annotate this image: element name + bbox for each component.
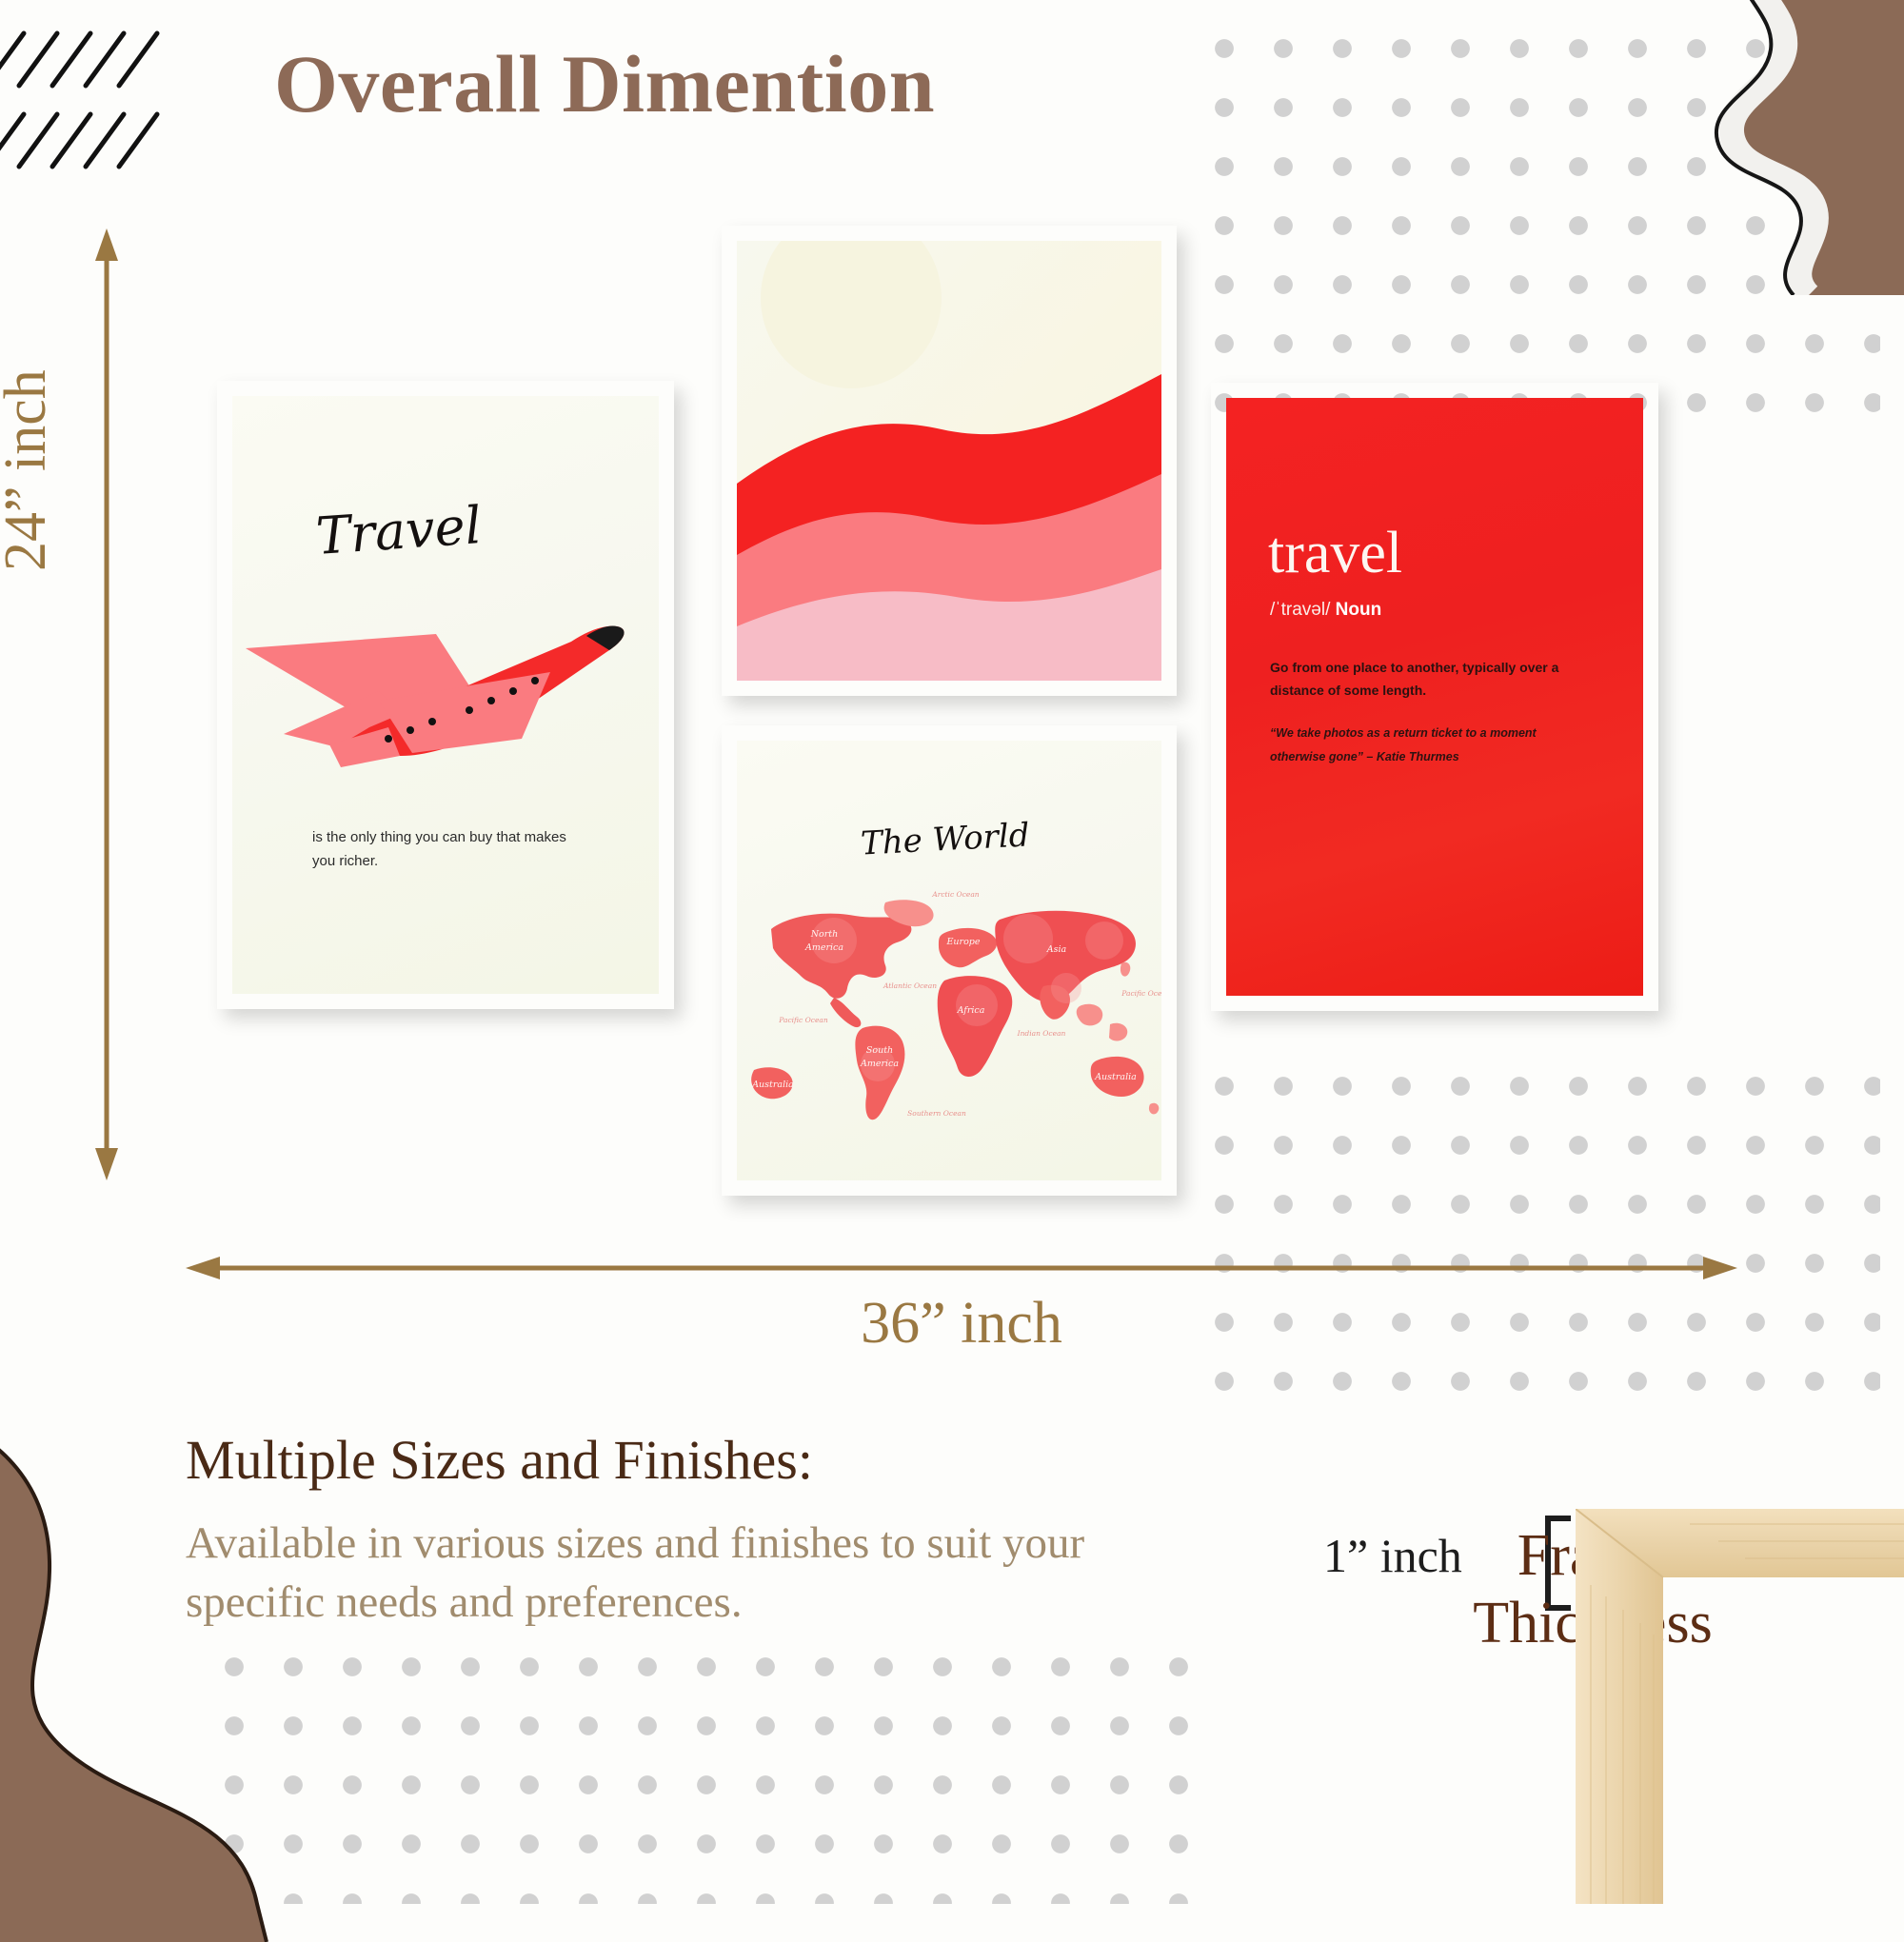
svg-text:Southern Ocean: Southern Ocean — [907, 1109, 966, 1118]
frame-corner-closeup — [1576, 1509, 1904, 1904]
poster-travel-definition: travel /ˈtravəl/ Noun Go from one place … — [1226, 398, 1643, 996]
frame-waves-poster[interactable] — [722, 226, 1177, 696]
frame-travel-mat: Travel — [232, 396, 659, 994]
svg-text:Pacific Ocean: Pacific Ocean — [1121, 989, 1161, 998]
dot-grid-bottom — [205, 1637, 1214, 1904]
svg-text:North: North — [810, 929, 839, 940]
width-dimension-label: 36” inch — [186, 1290, 1737, 1357]
definition-word: travel — [1268, 524, 1402, 583]
svg-text:South: South — [866, 1045, 893, 1056]
poster-travel: Travel — [232, 396, 659, 994]
frame-travel-poster[interactable]: Travel — [217, 381, 674, 1009]
blob-decoration-top-right — [1590, 0, 1904, 295]
svg-text:Atlantic Ocean: Atlantic Ocean — [883, 981, 937, 990]
svg-text:Europe: Europe — [945, 937, 980, 947]
abstract-waves-illustration — [737, 241, 1161, 681]
svg-text:America: America — [860, 1059, 899, 1069]
svg-text:America: America — [804, 942, 843, 953]
thickness-dimension-label: 1” inch — [1323, 1528, 1462, 1583]
definition-quote: “We take photos as a return ticket to a … — [1270, 722, 1584, 769]
definition-part-of-speech: Noun — [1336, 600, 1382, 620]
frame-definition-mat: travel /ˈtravəl/ Noun Go from one place … — [1226, 398, 1643, 996]
travel-script-title: Travel — [314, 495, 484, 566]
definition-phonetic-line: /ˈtravəl/ Noun — [1270, 600, 1381, 621]
svg-text:Africa: Africa — [957, 1005, 985, 1016]
svg-text:Australia: Australia — [751, 1080, 794, 1090]
world-script-title: The World — [860, 816, 1030, 862]
width-dimension-arrow — [186, 1257, 1737, 1279]
height-dimension-arrow — [95, 228, 118, 1180]
travel-poster-caption: is the only thing you can buy that makes… — [312, 826, 588, 874]
svg-text:Asia: Asia — [1046, 944, 1067, 955]
svg-text:Indian Ocean: Indian Ocean — [1017, 1029, 1066, 1038]
definition-phonetic: /ˈtravəl/ — [1270, 600, 1330, 620]
definition-text: Go from one place to another, typically … — [1270, 657, 1603, 703]
frame-map-mat: The World — [737, 741, 1161, 1180]
height-dimension-label: 24” inch — [0, 369, 60, 571]
svg-text:Australia: Australia — [1094, 1072, 1137, 1082]
footer-heading: Multiple Sizes and Finishes: — [186, 1428, 813, 1492]
world-map-illustration: Arctic Ocean North America Europe Asia A… — [743, 883, 1161, 1140]
poster-world-map: The World — [737, 741, 1161, 1180]
frame-definition-poster[interactable]: travel /ˈtravəl/ Noun Go from one place … — [1211, 383, 1658, 1011]
hatch-lines-decoration — [0, 19, 209, 181]
svg-text:Pacific Ocean: Pacific Ocean — [778, 1016, 828, 1024]
page-title: Overall Dimention — [274, 36, 935, 131]
svg-text:Arctic Ocean: Arctic Ocean — [931, 890, 979, 899]
frame-waves-mat — [737, 241, 1161, 681]
footer-body: Available in various sizes and finishes … — [186, 1514, 1223, 1632]
frame-map-poster[interactable]: The World — [722, 725, 1177, 1196]
airplane-illustration — [232, 558, 659, 786]
